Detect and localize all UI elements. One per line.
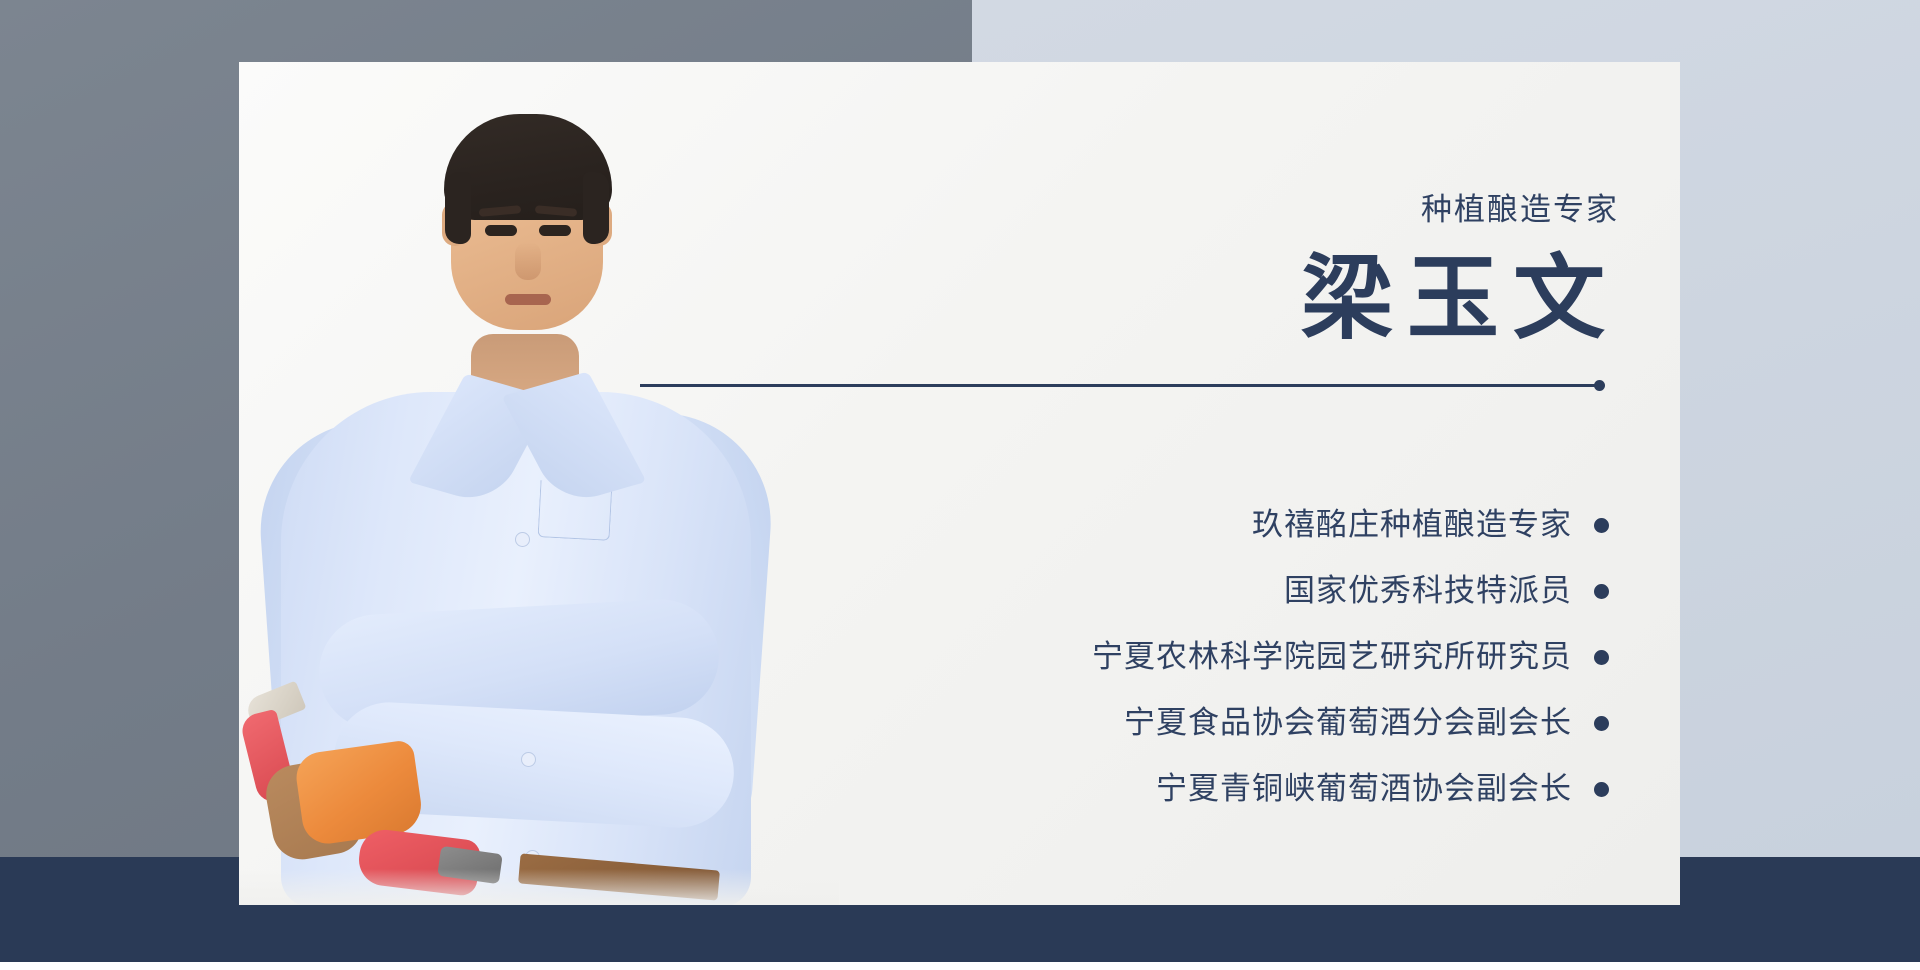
portrait-shirt-button [515,532,530,547]
portrait-eye-right [539,225,571,236]
portrait-hair-side-right [583,172,609,244]
credential-text: 宁夏青铜峡葡萄酒协会副会长 [1156,769,1572,809]
bullet-dot-icon [1594,782,1609,797]
credential-text: 玖禧酩庄种植酿造专家 [1252,505,1572,545]
profile-banner: 种植酿造专家 梁玉文 玖禧酩庄种植酿造专家 国家优秀科技特派员 宁夏农林科学院园… [0,0,1920,970]
divider [640,380,1605,392]
profile-name: 梁玉文 [939,240,1619,358]
bullet-dot-icon [1594,716,1609,731]
portrait-eye-left [485,225,517,236]
bullet-dot-icon [1594,518,1609,533]
list-item: 玖禧酩庄种植酿造专家 [699,492,1609,558]
portrait-nose [515,242,541,280]
divider-line [640,384,1600,387]
portrait-hair-side-left [445,172,471,244]
bullet-dot-icon [1594,584,1609,599]
background-bottom-white-strip [0,962,1920,970]
profile-card: 种植酿造专家 梁玉文 玖禧酩庄种植酿造专家 国家优秀科技特派员 宁夏农林科学院园… [239,62,1680,905]
list-item: 宁夏青铜峡葡萄酒协会副会长 [699,756,1609,822]
profile-subtitle: 种植酿造专家 [1079,190,1619,230]
credential-text: 国家优秀科技特派员 [1284,571,1572,611]
portrait-shirt-button [521,752,536,767]
divider-end-dot [1594,380,1605,391]
credentials-list: 玖禧酩庄种植酿造专家 国家优秀科技特派员 宁夏农林科学院园艺研究所研究员 宁夏食… [699,492,1609,822]
bullet-dot-icon [1594,650,1609,665]
list-item: 国家优秀科技特派员 [699,558,1609,624]
portrait-glove-orange [293,739,425,847]
portrait-mouth [505,294,551,305]
list-item: 宁夏农林科学院园艺研究所研究员 [699,624,1609,690]
portrait-bottom-fade [239,869,839,905]
credential-text: 宁夏农林科学院园艺研究所研究员 [1092,637,1572,677]
credential-text: 宁夏食品协会葡萄酒分会副会长 [1124,703,1572,743]
list-item: 宁夏食品协会葡萄酒分会副会长 [699,690,1609,756]
